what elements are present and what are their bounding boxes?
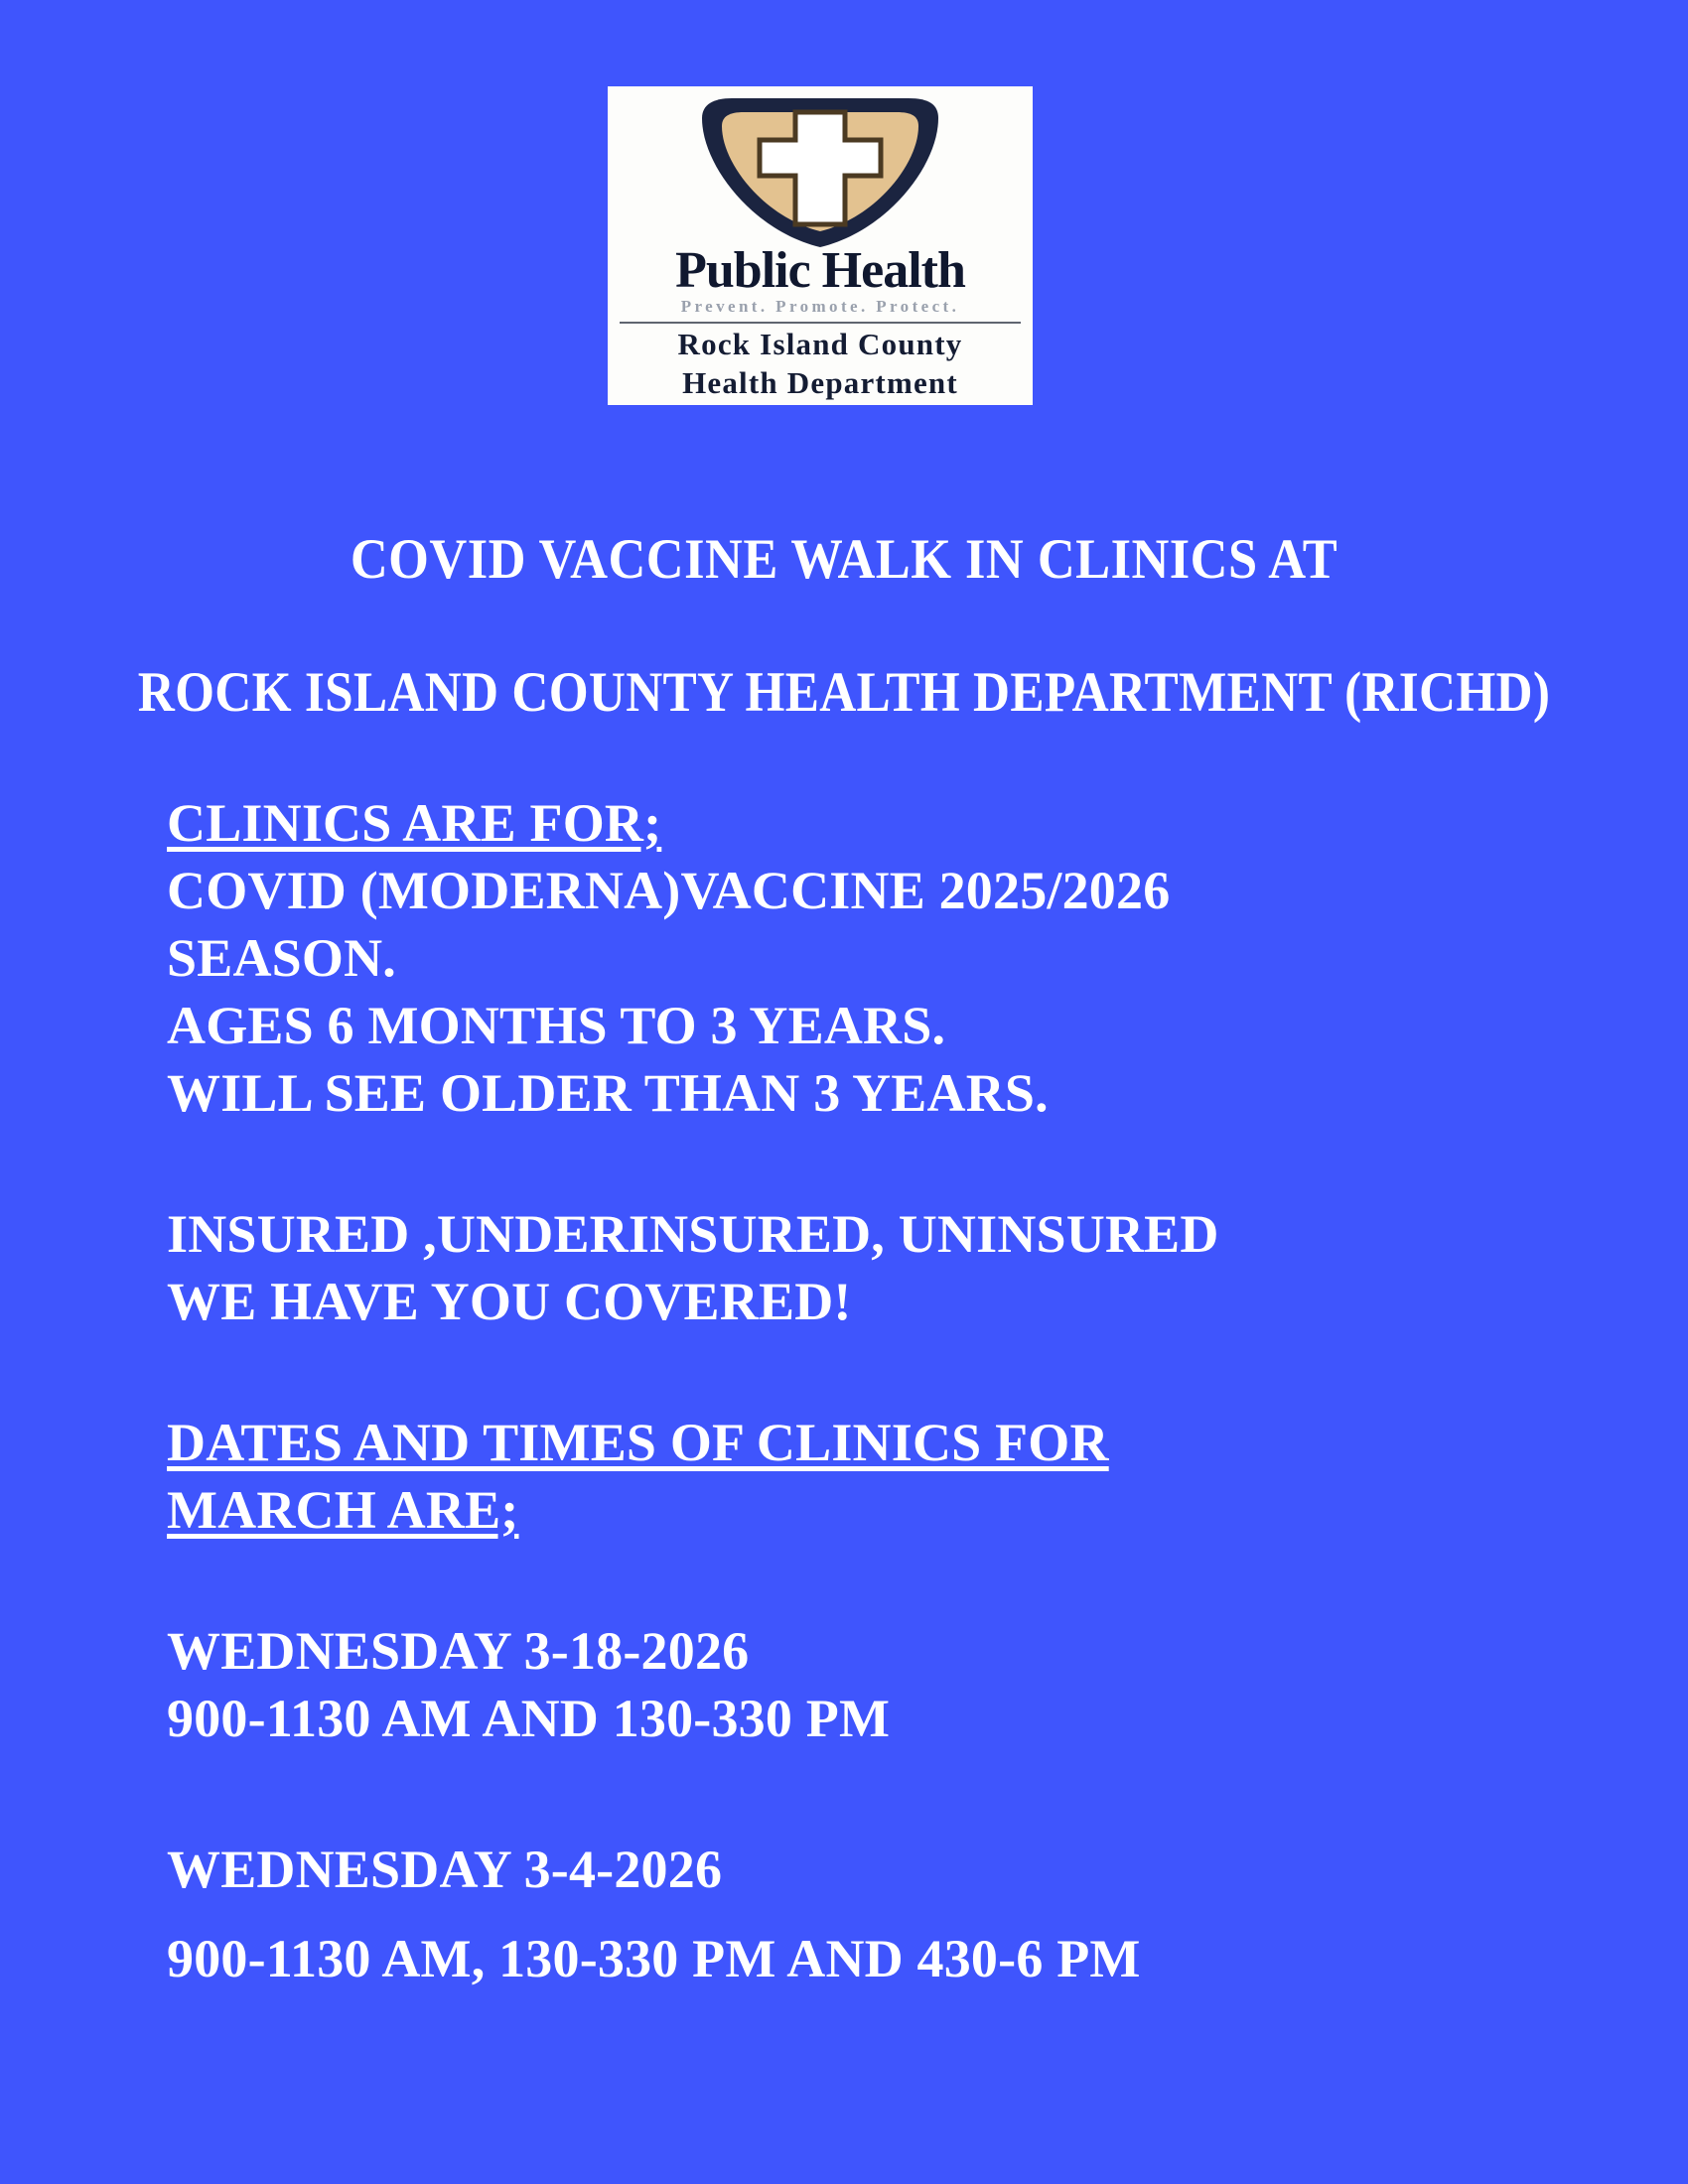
coverage-line-1: INSURED ,UNDERINSURED, UNINSURED [167, 1200, 1577, 1268]
page-title: COVID VACCINE WALK IN CLINICS AT [68, 527, 1620, 592]
clinic-2-date: WEDNESDAY 3-4-2026 [167, 1836, 1577, 1903]
clinic-2-times: 900-1130 AM, 130-330 PM AND 430-6 PM [167, 1925, 1577, 1992]
clinic-1-times: 900-1130 AM AND 130-330 PM [167, 1685, 1577, 1752]
flyer-body: CLINICS ARE FOR; COVID (MODERNA)VACCINE … [167, 789, 1577, 1992]
dates-heading-line-1: DATES AND TIMES OF CLINICS FOR [167, 1409, 1577, 1476]
clinic-1-date: WEDNESDAY 3-18-2026 [167, 1617, 1577, 1685]
clinics-detail-older: WILL SEE OLDER THAN 3 YEARS. [167, 1059, 1577, 1127]
clinics-for-heading: CLINICS ARE FOR; [167, 789, 1577, 857]
spacer [167, 1127, 1577, 1200]
clinics-detail-season: SEASON. [167, 924, 1577, 992]
dates-heading-line-2: MARCH ARE; [167, 1476, 1577, 1544]
coverage-line-2: WE HAVE YOU COVERED! [167, 1268, 1577, 1335]
health-department-logo: Public Health Prevent. Promote. Protect.… [608, 86, 1033, 405]
logo-divider [620, 322, 1021, 324]
logo-department-line-1: Rock Island County [678, 328, 963, 362]
logo-wordmark: Public Health [675, 247, 965, 295]
flyer-page: Public Health Prevent. Promote. Protect.… [0, 0, 1688, 2184]
shield-cross-icon [608, 86, 1033, 253]
clinics-detail-ages: AGES 6 MONTHS TO 3 YEARS. [167, 992, 1577, 1059]
page-subtitle: ROCK ISLAND COUNTY HEALTH DEPARTMENT (RI… [84, 660, 1604, 725]
spacer [167, 1335, 1577, 1409]
clinics-detail-vaccine: COVID (MODERNA)VACCINE 2025/2026 [167, 857, 1577, 924]
spacer [167, 1544, 1577, 1617]
logo-department-line-2: Health Department [682, 366, 958, 401]
spacer [167, 1752, 1577, 1836]
logo-tagline: Prevent. Promote. Protect. [681, 297, 960, 317]
